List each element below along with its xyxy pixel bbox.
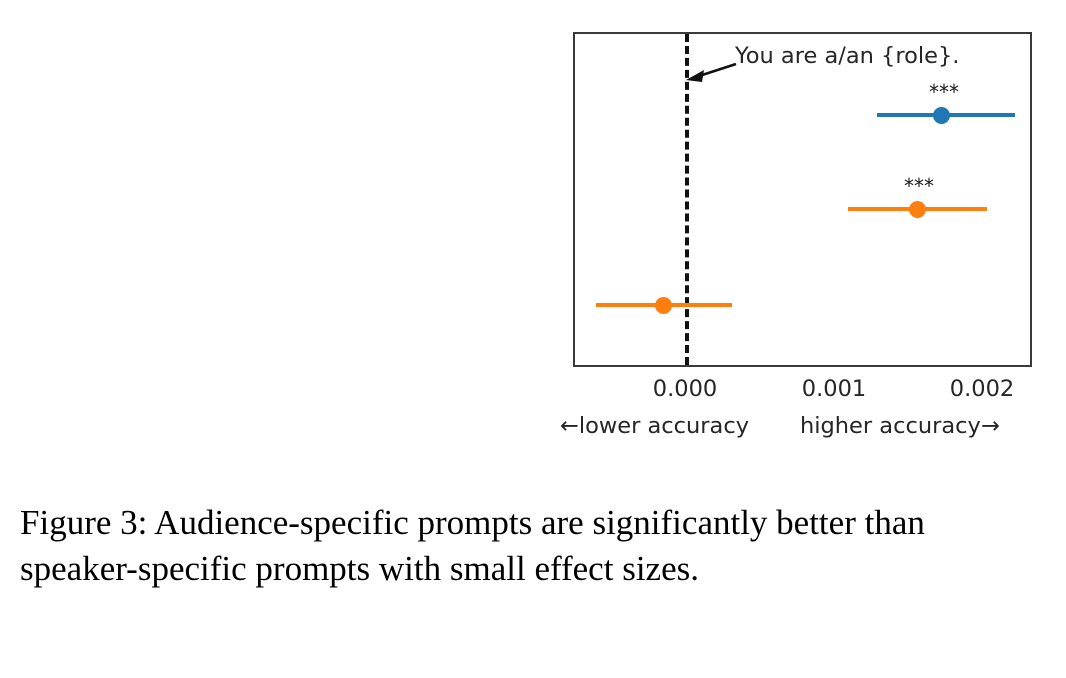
significance-stars-row-0: *** <box>929 82 959 102</box>
axis-note-lower-accuracy: ←lower accuracy <box>560 415 749 438</box>
xtick-label-2: 0.002 <box>950 378 1014 401</box>
estimate-point-row-2 <box>655 297 672 314</box>
xtick-label-1: 0.001 <box>802 378 866 401</box>
axis-note-higher-accuracy: higher accuracy→ <box>800 415 1000 438</box>
plot-area: *** *** <box>573 32 1032 367</box>
xtick-label-0: 0.000 <box>653 378 717 401</box>
figure-3: Imagine you are talking to a/an {role}. … <box>0 0 1066 460</box>
significance-stars-row-1: *** <box>904 176 934 196</box>
reference-callout-arrow <box>680 60 740 90</box>
estimate-point-row-1 <box>909 201 926 218</box>
estimate-point-row-0 <box>933 107 950 124</box>
figure-caption: Figure 3: Audience-specific prompts are … <box>20 500 1050 591</box>
reference-callout-label: You are a/an {role}. <box>735 45 959 68</box>
